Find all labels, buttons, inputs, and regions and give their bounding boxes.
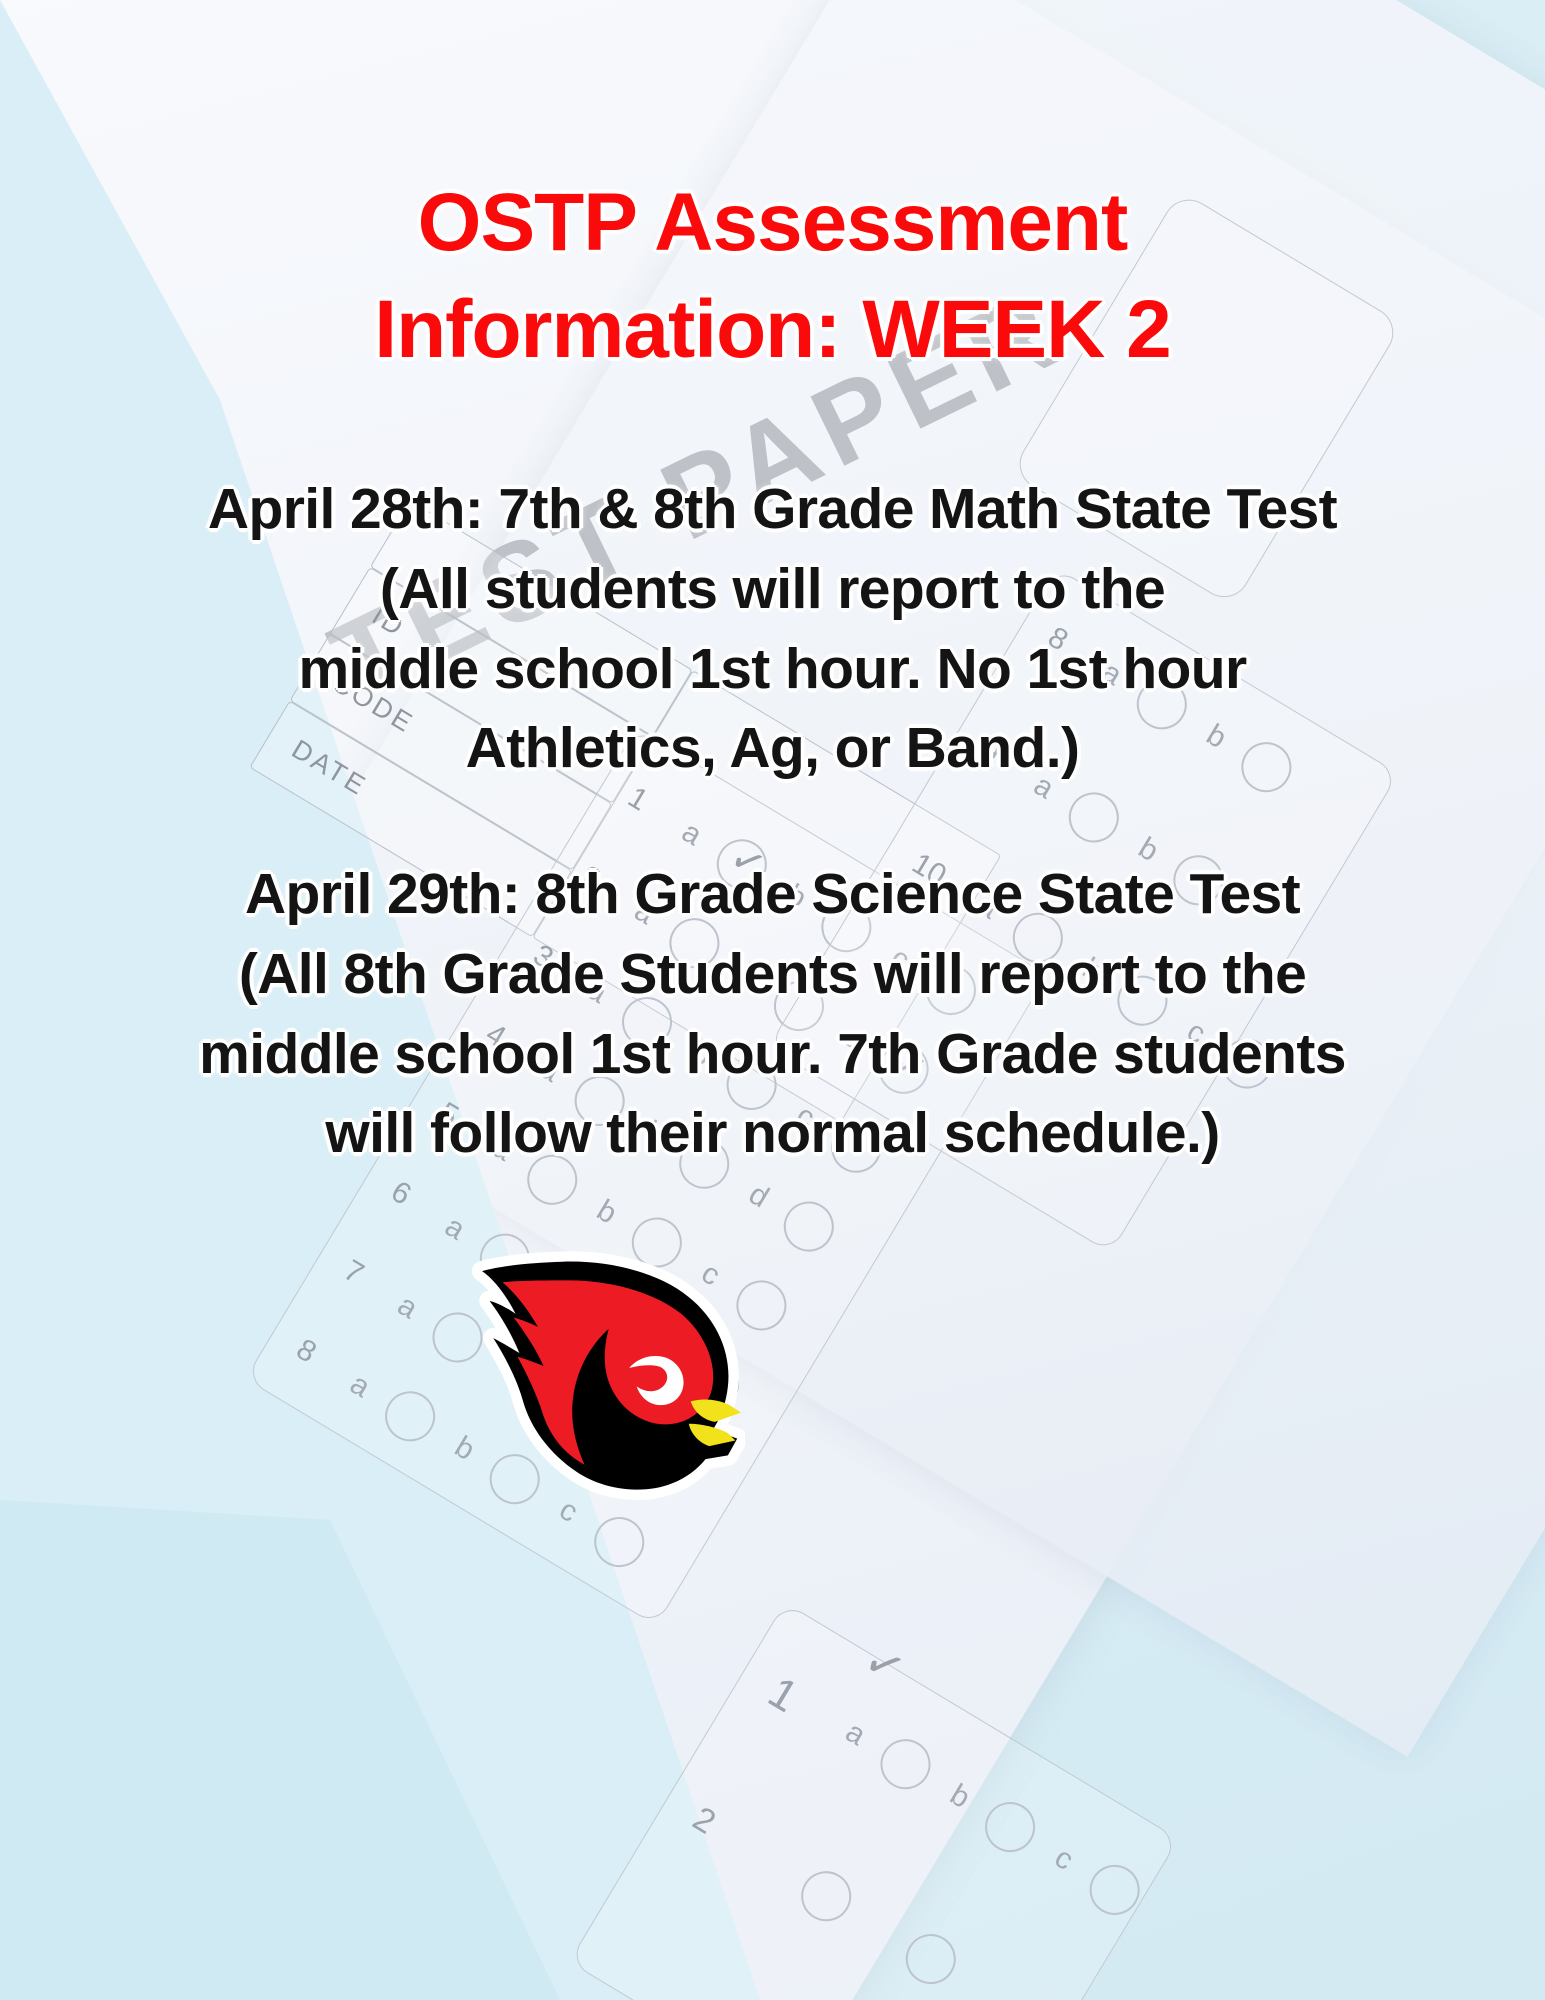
- cardinal-mascot-logo: [465, 1245, 745, 1515]
- paragraph-line: (All students will report to the: [10, 550, 1535, 630]
- page-title: OSTP Assessment Information: WEEK 2: [0, 170, 1545, 383]
- paragraph-line: April 29th: 8th Grade Science State Test: [10, 855, 1535, 935]
- page-title-line-2: Information: WEEK 2: [0, 277, 1545, 384]
- poster-content: OSTP Assessment Information: WEEK 2 Apri…: [0, 0, 1545, 2000]
- paragraph-line: middle school 1st hour. No 1st hour: [10, 630, 1535, 710]
- paragraph-line: Athletics, Ag, or Band.): [10, 709, 1535, 789]
- paragraph-april-28: April 28th: 7th & 8th Grade Math State T…: [10, 470, 1535, 789]
- paragraph-april-29: April 29th: 8th Grade Science State Test…: [10, 855, 1535, 1174]
- page-title-line-1: OSTP Assessment: [0, 170, 1545, 277]
- paragraph-line: will follow their normal schedule.): [10, 1094, 1535, 1174]
- paragraph-line: (All 8th Grade Students will report to t…: [10, 935, 1535, 1015]
- paragraph-line: April 28th: 7th & 8th Grade Math State T…: [10, 470, 1535, 550]
- paragraph-line: middle school 1st hour. 7th Grade studen…: [10, 1015, 1535, 1095]
